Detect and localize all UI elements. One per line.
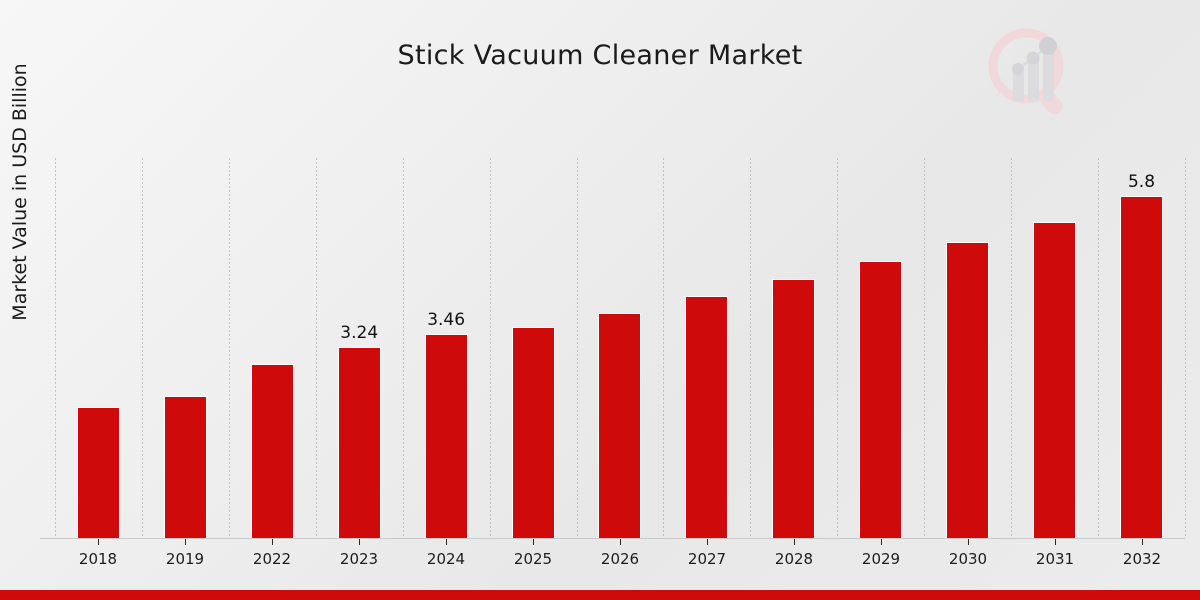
bar-2032[interactable] [1120,196,1163,538]
bar-slot [837,158,924,538]
bar-2019[interactable] [164,396,207,538]
x-tick-label-2028: 2028 [749,550,839,568]
x-tick-mark [98,538,99,545]
magnifier-bar-chart-logo [980,24,1084,122]
x-tick-label-2031: 2031 [1010,550,1100,568]
x-tick-mark [1142,538,1143,545]
bar-2025[interactable] [512,327,555,539]
x-tick-label-2023: 2023 [314,550,404,568]
x-tick-mark [1055,538,1056,545]
bar-value-label-2032: 5.8 [1097,172,1187,192]
footer-accent-bar [0,590,1200,600]
bar-2029[interactable] [859,261,902,538]
bar-slot [750,158,837,538]
x-tick-label-2025: 2025 [488,550,578,568]
x-tick-label-2032: 2032 [1097,550,1187,568]
x-tick-label-2022: 2022 [227,550,317,568]
x-tick-label-2018: 2018 [53,550,143,568]
bar-slot [229,158,316,538]
bar-2030[interactable] [946,242,989,538]
x-tick-mark [446,538,447,545]
plot-area: 2018201920223.2420233.462024202520262027… [55,158,1185,538]
x-tick-mark [272,538,273,545]
x-tick-label-2024: 2024 [401,550,491,568]
bar-value-label-2024: 3.46 [401,310,491,330]
bar-2028[interactable] [772,279,815,538]
bar-slot [142,158,229,538]
bar-slot [924,158,1011,538]
bar-slot: 5.8 [1098,158,1185,538]
bar-slot [490,158,577,538]
x-tick-mark [185,538,186,545]
bar-slot [55,158,142,538]
bar-slot [577,158,664,538]
x-tick-label-2029: 2029 [836,550,926,568]
x-tick-mark [968,538,969,545]
bar-2027[interactable] [685,296,728,538]
x-axis-line [40,538,1185,539]
bar-slot [663,158,750,538]
gridline [1185,158,1186,538]
x-tick-mark [794,538,795,545]
x-tick-mark [533,538,534,545]
bar-slot: 3.24 [316,158,403,538]
bar-value-label-2023: 3.24 [314,323,404,343]
bar-slot: 3.46 [403,158,490,538]
x-tick-label-2030: 2030 [923,550,1013,568]
y-axis-title: Market Value in USD Billion [3,0,37,392]
bar-2018[interactable] [77,407,120,538]
x-tick-label-2026: 2026 [575,550,665,568]
bar-2023[interactable] [338,347,381,538]
bar-slot [1011,158,1098,538]
bar-2024[interactable] [425,334,468,538]
bar-2026[interactable] [598,313,641,538]
bar-2022[interactable] [251,364,294,538]
x-tick-label-2027: 2027 [662,550,752,568]
x-tick-mark [359,538,360,545]
x-tick-mark [620,538,621,545]
bar-2031[interactable] [1033,222,1076,538]
x-tick-mark [707,538,708,545]
x-tick-label-2019: 2019 [140,550,230,568]
chart-page: Stick Vacuum Cleaner Market Market Value… [0,0,1200,600]
x-tick-mark [881,538,882,545]
